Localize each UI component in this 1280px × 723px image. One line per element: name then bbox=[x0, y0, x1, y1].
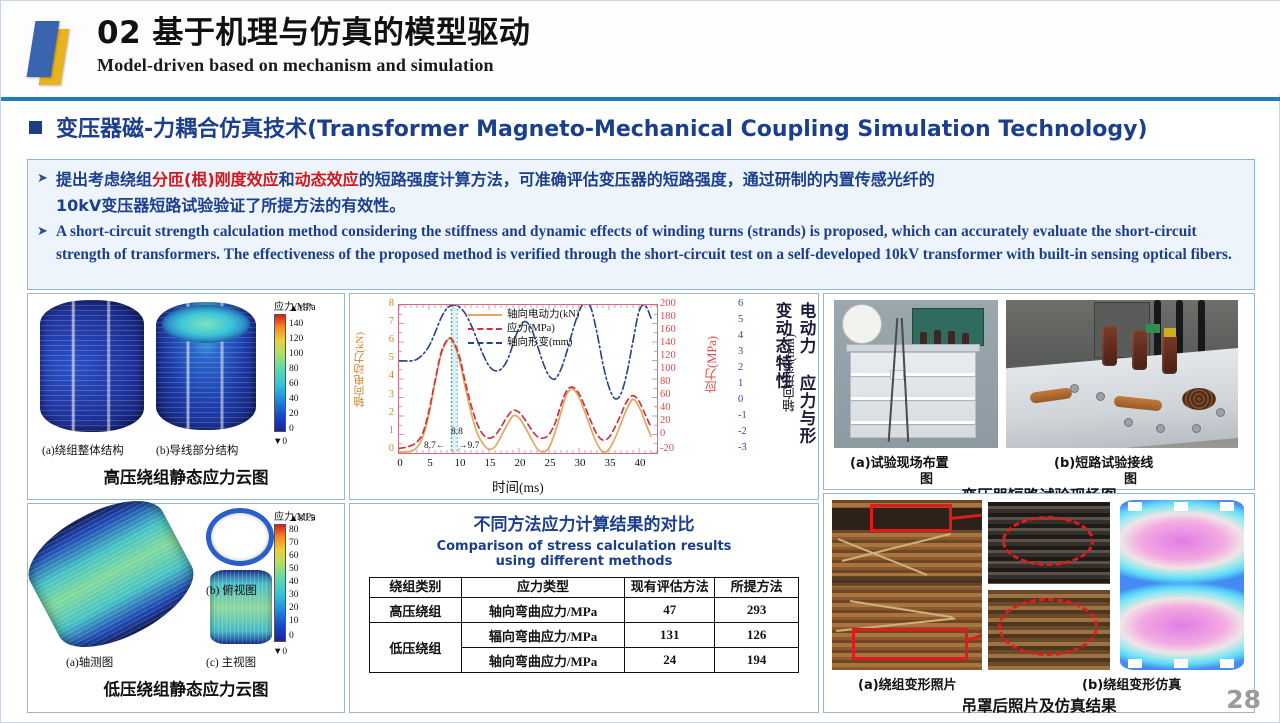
ytick-l-0: 0 bbox=[389, 445, 394, 453]
ytick-d-m2: -2 bbox=[738, 428, 747, 436]
lv-panel-title: 低压绕组静态应力云图 bbox=[28, 676, 344, 700]
hv-slot-overlay-2 bbox=[156, 302, 256, 430]
stress-type-text-2: 辐向弯曲应力 bbox=[489, 630, 567, 645]
hv-colorbar-gradient bbox=[274, 314, 286, 432]
ytick-d-6: 6 bbox=[738, 300, 743, 308]
lv-colorbar-body: ▲80.5 80 70 60 50 40 30 20 10 0 ▼0 bbox=[274, 524, 340, 644]
table-row: 高压绕组 轴向弯曲应力/MPa 47 293 bbox=[370, 598, 799, 623]
defect-oval-bottom bbox=[998, 598, 1098, 656]
xtick-35: 35 bbox=[605, 457, 616, 469]
slide-header: 02 基于机理与仿真的模型驱动 Model-driven based on me… bbox=[1, 1, 1280, 95]
ytick-s-100: 100 bbox=[660, 365, 676, 373]
wiring-bushing-1 bbox=[1102, 326, 1117, 366]
defect-oval-top bbox=[1002, 516, 1094, 566]
ytick-d-3: 3 bbox=[738, 348, 743, 356]
table-title-en-line1: Comparison of stress calculation results bbox=[350, 539, 818, 554]
lv-tick-20: 20 bbox=[289, 604, 299, 612]
cell-proposed-3: 194 bbox=[715, 648, 799, 673]
annotation-right-bound: →9.7 bbox=[458, 441, 479, 451]
legend-label-deform: 轴向形变(mm) bbox=[507, 336, 572, 350]
site-caption-a: (a)试验现场布置 bbox=[850, 452, 949, 471]
winding-deformation-photo bbox=[832, 500, 982, 670]
cell-stress-type-3: 轴向弯曲应力/MPa bbox=[461, 648, 625, 673]
cell-winding-hv: 高压绕组 bbox=[370, 598, 462, 623]
sim-notch-6 bbox=[1220, 659, 1234, 668]
slide-root: 02 基于机理与仿真的模型驱动 Model-driven based on me… bbox=[0, 0, 1280, 723]
page-title-en: Model-driven based on mechanism and simu… bbox=[97, 55, 530, 76]
sim-notch-5 bbox=[1174, 659, 1188, 668]
legend-item-stress: 应力(MPa) bbox=[468, 322, 579, 336]
lv-tick-60: 60 bbox=[289, 552, 299, 560]
ytick-s-m20: -20 bbox=[660, 445, 674, 453]
wiring-bushing-3 bbox=[1162, 334, 1177, 374]
chart-yticks-right-stress: 200 180 160 140 120 100 80 60 40 20 0 -2… bbox=[660, 304, 686, 454]
deform-photo-row bbox=[824, 494, 1254, 674]
ytick-l-5: 5 bbox=[389, 354, 394, 362]
xtick-15: 15 bbox=[485, 457, 496, 469]
hv-conductor-render bbox=[156, 302, 256, 430]
cell-stress-type-1: 轴向弯曲应力/MPa bbox=[461, 598, 625, 623]
legend-item-force: 轴向电动力(kN) bbox=[468, 308, 579, 322]
content-area: 应力/MPa ▲157 140 120 100 80 60 40 bbox=[27, 293, 1255, 713]
ytick-d-5: 5 bbox=[738, 316, 743, 324]
stress-type-text-3: 轴向弯曲应力 bbox=[489, 655, 567, 670]
legend-line-force-icon bbox=[468, 314, 502, 316]
lv-caption-a: (a)轴测图 bbox=[66, 654, 113, 670]
callout-bullet-en: ➤ A short-circuit strength calculation m… bbox=[36, 220, 1244, 266]
site-caption-b-cont: 图 bbox=[1124, 468, 1137, 487]
hv-full-winding-render bbox=[40, 300, 144, 432]
header-divider bbox=[1, 97, 1280, 101]
ytick-s-80: 80 bbox=[660, 378, 671, 386]
th-winding-class: 绕组类别 bbox=[370, 578, 462, 598]
defect-highlight-box-top bbox=[870, 504, 952, 532]
lv-colorbar-ticks: ▲80.5 80 70 60 50 40 30 20 10 0 ▼0 bbox=[289, 524, 335, 644]
lv-sim-images: 应力/MPa ▲80.5 80 70 60 50 40 30 bbox=[28, 504, 344, 654]
hv-tick-60: 60 bbox=[289, 380, 299, 388]
hv-colorbar-ticks: ▲157 140 120 100 80 60 40 20 0 ▼0 bbox=[289, 314, 335, 434]
th-stress-type: 应力类型 bbox=[461, 578, 625, 598]
cell-proposed-1: 293 bbox=[715, 598, 799, 623]
ytick-d-0: 0 bbox=[738, 396, 743, 404]
defect-highlight-box-bottom bbox=[852, 628, 968, 660]
site-captions: (a)试验现场布置 图 (b)短路试验接线 图 bbox=[824, 452, 1254, 472]
chart-series-1 bbox=[399, 338, 651, 449]
arrow-bullet-icon-2: ➤ bbox=[36, 220, 49, 242]
chart-ylabel-right-1: 应力(MPa) bbox=[702, 336, 721, 393]
lv-tick-30: 30 bbox=[289, 591, 299, 599]
lv-tick-50: 50 bbox=[289, 565, 299, 573]
hv-tick-80: 80 bbox=[289, 365, 299, 373]
chart-area: 轴向电动力(kN) 应力(MPa) 轴向形变(mm) 时间(ms) 8 7 6 … bbox=[350, 294, 818, 499]
ytick-d-2: 2 bbox=[738, 364, 743, 372]
deck-bolt-6 bbox=[1216, 408, 1225, 417]
lv-tick-0: 0 bbox=[289, 632, 294, 640]
deformation-zoom-bottom bbox=[988, 590, 1110, 670]
legend-item-deform: 轴向形变(mm) bbox=[468, 336, 579, 350]
site-caption-b: (b)短路试验接线 bbox=[1054, 452, 1153, 471]
cn-seg-line2: 10kV变压器短路试验验证了所提方法的有效性。 bbox=[56, 196, 405, 215]
annotation-peak-time: 8.8 bbox=[451, 427, 463, 437]
callout-en-text: A short-circuit strength calculation met… bbox=[56, 220, 1244, 266]
hv-tick-0: 0 bbox=[289, 425, 294, 433]
chart-series-0 bbox=[399, 339, 651, 453]
deck-bolt-5 bbox=[1192, 424, 1201, 433]
deform-captions: (a)绕组变形照片 (b)绕组变形仿真 bbox=[824, 674, 1254, 694]
header-text-group: 02 基于机理与仿真的模型驱动 Model-driven based on me… bbox=[97, 13, 530, 76]
wiring-bushing-2 bbox=[1132, 330, 1147, 370]
hv-tick-100: 100 bbox=[289, 350, 303, 358]
stress-comparison-table: 绕组类别 应力类型 现有评估方法 所提方法 高压绕组 轴向弯曲应力/MPa 47… bbox=[369, 577, 799, 673]
tank-fin-1 bbox=[851, 373, 975, 376]
sim-notch-1 bbox=[1128, 502, 1142, 511]
ytick-l-2: 2 bbox=[389, 409, 394, 417]
deform-group-title: 吊罩后照片及仿真结果 bbox=[824, 694, 1254, 716]
ytick-l-8: 8 bbox=[389, 300, 394, 308]
th-existing-method: 现有评估方法 bbox=[625, 578, 715, 598]
hv-sim-images: 应力/MPa ▲157 140 120 100 80 60 40 bbox=[28, 294, 344, 442]
ytick-s-0: 0 bbox=[660, 430, 665, 438]
test-site-panel: (a)试验现场布置 图 (b)短路试验接线 图 变压器短路试验现场图 bbox=[823, 293, 1255, 490]
transformer-tank bbox=[850, 352, 976, 438]
chart-xticks: 0 5 10 15 20 25 30 35 40 bbox=[398, 457, 658, 471]
sim-notch-2 bbox=[1174, 502, 1188, 511]
cell-proposed-2: 126 bbox=[715, 623, 799, 648]
stress-unit-3: /MPa bbox=[567, 654, 597, 669]
lv-captions: (a)轴测图 (b) 俯视图 (c) 主视图 bbox=[28, 654, 344, 672]
lv-winding-panel: 应力/MPa ▲80.5 80 70 60 50 40 30 bbox=[27, 503, 345, 713]
dark-band-mid bbox=[832, 576, 982, 586]
page-number: 28 bbox=[1226, 685, 1261, 714]
cn-seg-b: 和 bbox=[279, 170, 295, 189]
section-heading: 变压器磁-力耦合仿真技术(Transformer Magneto-Mechani… bbox=[29, 111, 1148, 143]
legend-label-force: 轴向电动力(kN) bbox=[507, 308, 579, 322]
winding-deformation-simulation bbox=[1120, 500, 1244, 670]
ytick-s-160: 160 bbox=[660, 326, 676, 334]
deform-caption-b: (b)绕组变形仿真 bbox=[1082, 674, 1181, 693]
parallelogram-logo-icon bbox=[23, 17, 81, 85]
xtick-0: 0 bbox=[397, 457, 403, 469]
cn-seg-c: 的短路强度计算方法，可准确评估变压器的短路强度，通过研制的内置传感光纤的 bbox=[359, 170, 935, 189]
ytick-s-40: 40 bbox=[660, 404, 671, 412]
test-site-layout-photo bbox=[834, 300, 998, 448]
hv-tick-120: 120 bbox=[289, 335, 303, 343]
deformation-zoom-top bbox=[988, 502, 1110, 584]
lv-caption-b: (b) 俯视图 bbox=[206, 582, 257, 598]
tank-fin-2 bbox=[851, 397, 975, 400]
coil-detail bbox=[1182, 388, 1216, 410]
stress-type-text-1: 轴向弯曲应力 bbox=[489, 605, 567, 620]
ytick-d-m3: -3 bbox=[738, 444, 747, 452]
tank-fin-3 bbox=[851, 421, 975, 424]
table-header-row: 绕组类别 应力类型 现有评估方法 所提方法 bbox=[370, 578, 799, 598]
hv-wire-3 bbox=[1198, 300, 1205, 354]
cn-highlight-1: 分匝(根)刚度效应 bbox=[152, 170, 279, 189]
site-caption-a-cont: 图 bbox=[920, 468, 933, 487]
table-title-en-line2: using different methods bbox=[350, 554, 818, 569]
hv-tick-140: 140 bbox=[289, 320, 303, 328]
sim-notch-4 bbox=[1128, 659, 1142, 668]
hv-winding-panel: 应力/MPa ▲157 140 120 100 80 60 40 bbox=[27, 293, 345, 500]
table-title-en: Comparison of stress calculation results… bbox=[350, 539, 818, 569]
ytick-d-m1: -1 bbox=[738, 412, 747, 420]
lv-caption-c: (c) 主视图 bbox=[206, 654, 256, 670]
lv-topview-render bbox=[206, 508, 274, 566]
callout-bullet-cn: ➤ 提出考虑绕组分匝(根)刚度效应和动态效应的短路强度计算方法，可准确评估变压器… bbox=[36, 167, 1244, 219]
hv-colorbar-max: ▲157 bbox=[289, 305, 313, 313]
lv-isometric-render bbox=[15, 482, 208, 665]
hv-caption-a: (a)绕组整体结构 bbox=[42, 442, 124, 458]
xtick-40: 40 bbox=[635, 457, 646, 469]
lv-colorbar-gradient bbox=[274, 524, 286, 642]
xtick-20: 20 bbox=[515, 457, 526, 469]
hv-captions: (a)绕组整体结构 (b)导线部分结构 bbox=[28, 442, 344, 460]
tank-lid bbox=[846, 344, 980, 352]
cell-stress-type-2: 辐向弯曲应力/MPa bbox=[461, 623, 625, 648]
xtick-25: 25 bbox=[545, 457, 556, 469]
ytick-d-4: 4 bbox=[738, 332, 743, 340]
chart-yticks-left: 8 7 6 5 4 3 2 1 0 bbox=[368, 304, 394, 454]
legend-line-deform-icon bbox=[468, 342, 502, 344]
ytick-s-60: 60 bbox=[660, 391, 671, 399]
hv-colorbar: 应力/MPa ▲157 140 120 100 80 60 40 bbox=[274, 298, 340, 440]
zoom-inset-circle bbox=[842, 304, 882, 344]
ytick-l-6: 6 bbox=[389, 336, 394, 344]
lv-tick-10: 10 bbox=[289, 617, 299, 625]
ytick-l-3: 3 bbox=[389, 391, 394, 399]
ytick-s-120: 120 bbox=[660, 352, 676, 360]
cell-existing-2: 131 bbox=[625, 623, 715, 648]
ytick-s-200: 200 bbox=[660, 300, 676, 308]
annotation-left-bound: 8.7← bbox=[424, 441, 445, 451]
ytick-s-180: 180 bbox=[660, 313, 676, 321]
deck-bolt-2 bbox=[1096, 392, 1105, 401]
lv-tick-80: 80 bbox=[289, 526, 299, 534]
callout-cn-text: 提出考虑绕组分匝(根)刚度效应和动态效应的短路强度计算方法，可准确评估变压器的短… bbox=[56, 167, 935, 219]
hv-tick-20: 20 bbox=[289, 410, 299, 418]
deform-caption-a: (a)绕组变形照片 bbox=[858, 674, 957, 693]
dynamic-response-chart-panel: 轴向电动力(kN) 应力(MPa) 轴向形变(mm) 时间(ms) 8 7 6 … bbox=[349, 293, 819, 500]
ytick-s-140: 140 bbox=[660, 339, 676, 347]
section-title: 变压器磁-力耦合仿真技术(Transformer Magneto-Mechani… bbox=[56, 111, 1148, 143]
chart-ylabel-left: 轴向电动力(kN) bbox=[352, 332, 366, 408]
chart-yticks-right-deform: 6 5 4 3 2 1 0 -1 -2 -3 bbox=[738, 304, 764, 454]
lv-colorbar-max: ▲80.5 bbox=[289, 515, 315, 523]
hv-slot-overlay bbox=[40, 300, 144, 432]
hv-caption-b: (b)导线部分结构 bbox=[156, 442, 238, 458]
ytick-l-7: 7 bbox=[389, 318, 394, 326]
cn-seg-a: 提出考虑绕组 bbox=[56, 170, 152, 189]
green-tape-marker bbox=[1146, 324, 1160, 333]
insulation-strand-3 bbox=[850, 600, 953, 618]
table-title-cn: 不同方法应力计算结果的对比 bbox=[350, 510, 818, 535]
cell-existing-1: 47 bbox=[625, 598, 715, 623]
lv-tick-70: 70 bbox=[289, 539, 299, 547]
hv-colorbar-body: ▲157 140 120 100 80 60 40 20 0 ▼0 bbox=[274, 314, 340, 434]
annotation-8-7: 8.7 bbox=[424, 441, 436, 451]
chart-legend: 轴向电动力(kN) 应力(MPa) 轴向形变(mm) bbox=[468, 308, 579, 350]
xtick-5: 5 bbox=[427, 457, 433, 469]
arrow-bullet-icon: ➤ bbox=[36, 167, 49, 189]
hv-wire-2 bbox=[1176, 300, 1183, 358]
chart-vcap-col1: 电动力 应力与形 bbox=[794, 302, 818, 492]
page-title-cn: 02 基于机理与仿真的模型驱动 bbox=[97, 13, 530, 53]
chart-vertical-caption: 电动力 应力与形 变动态特性 bbox=[770, 302, 818, 492]
short-circuit-wiring-photo bbox=[1006, 300, 1238, 448]
deck-bolt-1 bbox=[1070, 384, 1079, 393]
site-photo-row bbox=[824, 294, 1254, 452]
ytick-l-4: 4 bbox=[389, 372, 394, 380]
sim-notch-3 bbox=[1220, 502, 1234, 511]
lv-tick-40: 40 bbox=[289, 578, 299, 586]
lv-colorbar: 应力/MPa ▲80.5 80 70 60 50 40 30 bbox=[274, 508, 340, 650]
chart-vcap-col2: 变动态特性 bbox=[770, 302, 794, 492]
yellow-tape-marker bbox=[1164, 328, 1176, 337]
legend-label-stress: 应力(MPa) bbox=[507, 322, 555, 336]
cell-existing-3: 24 bbox=[625, 648, 715, 673]
xtick-30: 30 bbox=[575, 457, 586, 469]
winding-deformation-panel: (a)绕组变形照片 (b)绕组变形仿真 吊罩后照片及仿真结果 bbox=[823, 493, 1255, 713]
ytick-s-20: 20 bbox=[660, 417, 671, 425]
stress-unit-1: /MPa bbox=[567, 604, 597, 619]
summary-callout-box: ➤ 提出考虑绕组分匝(根)刚度效应和动态效应的短路强度计算方法，可准确评估变压器… bbox=[27, 159, 1255, 290]
xtick-10: 10 bbox=[455, 457, 466, 469]
legend-line-stress-icon bbox=[468, 328, 502, 330]
table-row: 低压绕组 辐向弯曲应力/MPa 131 126 bbox=[370, 623, 799, 648]
comparison-table-panel: 不同方法应力计算结果的对比 Comparison of stress calcu… bbox=[349, 503, 819, 713]
th-proposed-method: 所提方法 bbox=[715, 578, 799, 598]
hv-panel-title: 高压绕组静态应力云图 bbox=[28, 464, 344, 488]
hv-tick-40: 40 bbox=[289, 395, 299, 403]
stress-unit-2: /MPa bbox=[567, 629, 597, 644]
cell-winding-lv: 低压绕组 bbox=[370, 623, 462, 673]
deck-bolt-4 bbox=[1156, 424, 1165, 433]
cn-highlight-2: 动态效应 bbox=[295, 170, 359, 189]
ytick-d-1: 1 bbox=[738, 380, 743, 388]
ytick-l-1: 1 bbox=[389, 427, 394, 435]
annotation-9-7: 9.7 bbox=[468, 441, 480, 451]
square-bullet-icon bbox=[29, 121, 42, 134]
chart-xlabel: 时间(ms) bbox=[492, 476, 544, 496]
deck-bolt-3 bbox=[1124, 418, 1133, 427]
